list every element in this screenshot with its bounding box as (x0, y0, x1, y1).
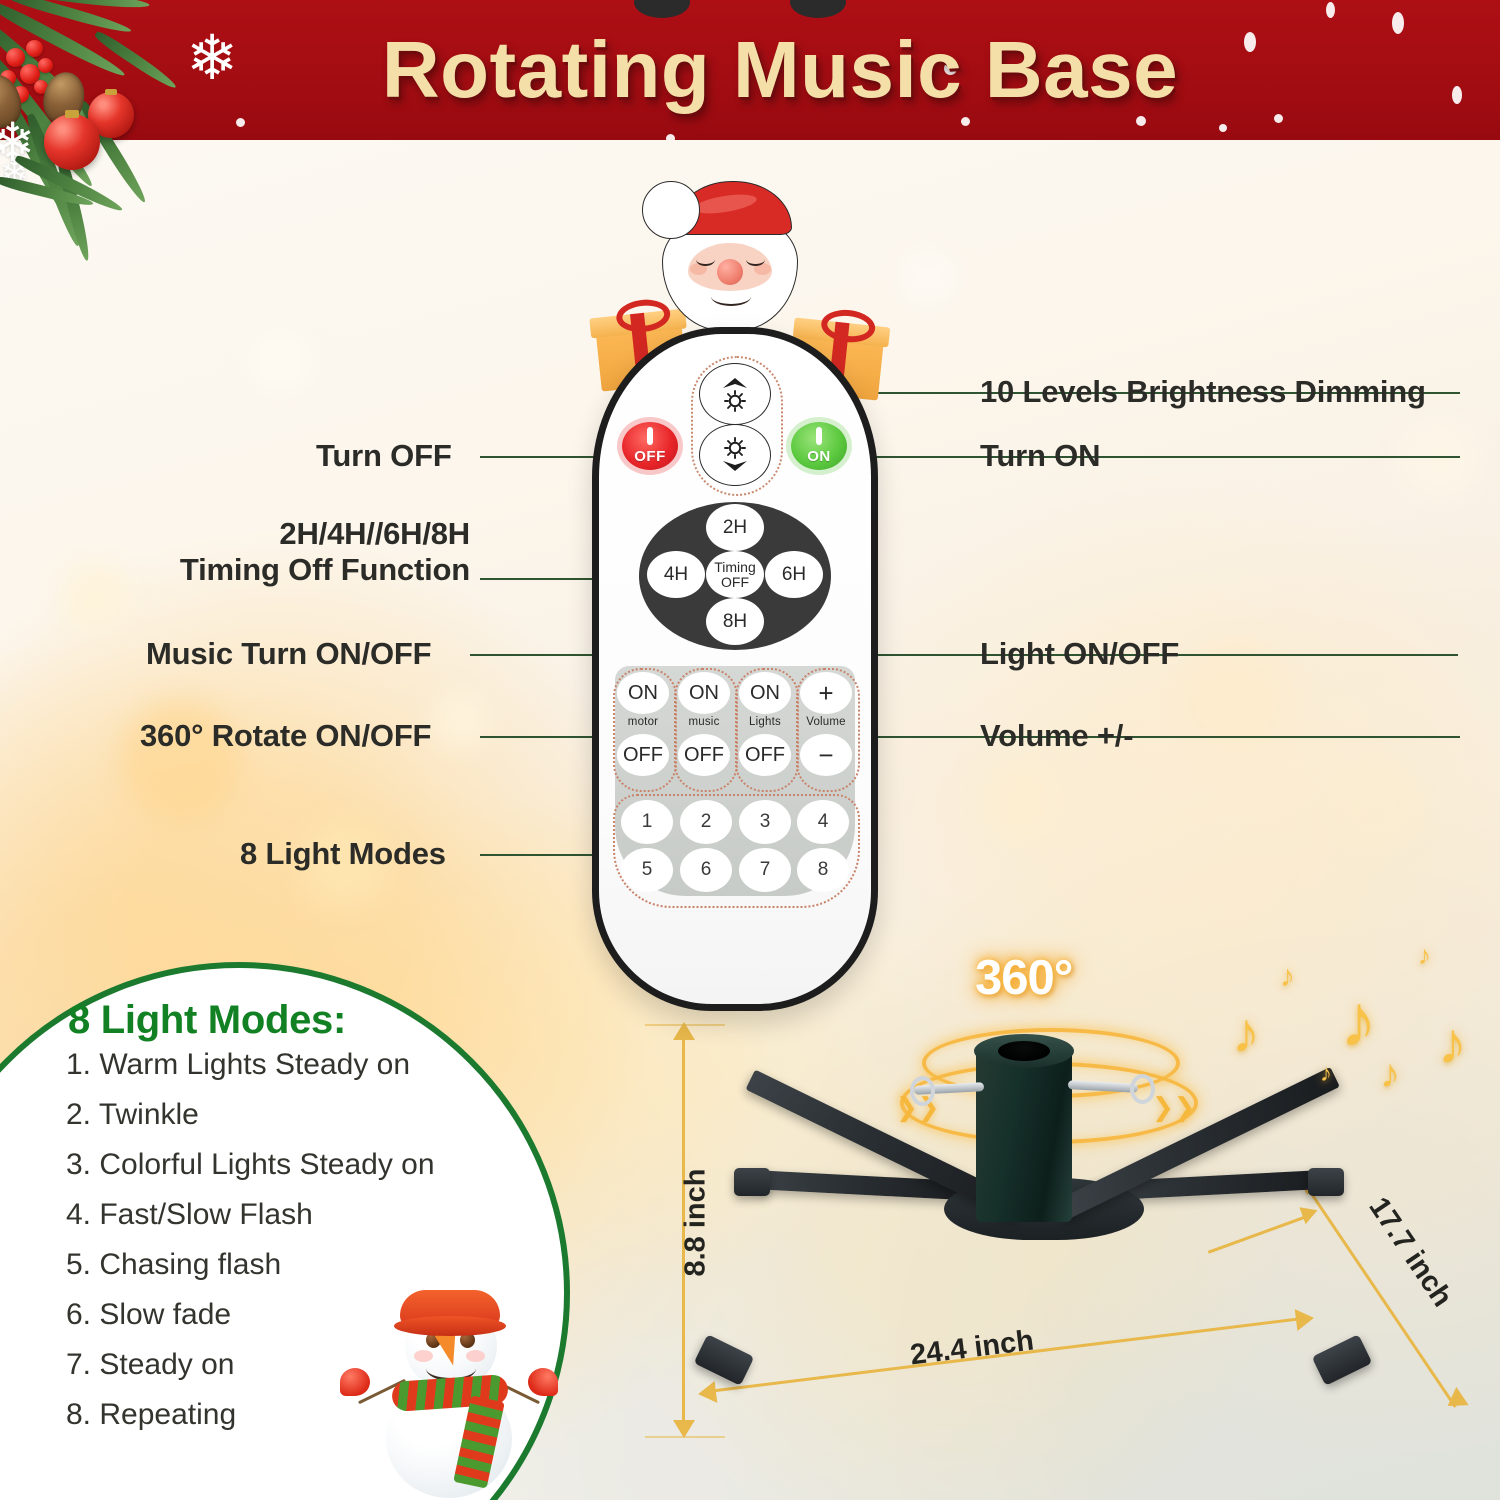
power-off-label: OFF (634, 448, 666, 470)
stand-screw-handle (1130, 1074, 1155, 1104)
list-item: 2. Twinkle (66, 1100, 536, 1130)
mode-7-button[interactable]: 7 (739, 848, 791, 892)
timer-6h-button[interactable]: 6H (765, 551, 823, 598)
leader-line-turn-on (800, 456, 1460, 458)
music-note-icon: ♪ (1280, 960, 1295, 994)
santa-eye (746, 253, 765, 266)
list-item: 4. Fast/Slow Flash (66, 1200, 536, 1230)
music-note-icon: ♪ (1232, 1000, 1260, 1065)
timing-off-line1: Timing (714, 560, 756, 575)
brightness-down-icon (713, 433, 757, 477)
list-item: 3. Colorful Lights Steady on (66, 1150, 536, 1180)
callout-volume: Volume +/- (980, 718, 1133, 754)
mode-3-button[interactable]: 3 (739, 800, 791, 844)
holly-berry (6, 48, 25, 67)
motor-label: motor (613, 716, 673, 728)
music-note-icon: ♪ (1418, 940, 1431, 971)
snowman-icon (332, 1272, 564, 1500)
timer-4h-button[interactable]: 4H (647, 551, 705, 598)
callout-turn-off: Turn OFF (316, 438, 452, 474)
timer-2h-button[interactable]: 2H (706, 504, 764, 551)
volume-up-button[interactable]: + (800, 672, 852, 714)
brightness-down-button[interactable] (699, 424, 771, 486)
callout-brightness: 10 Levels Brightness Dimming (980, 374, 1426, 410)
music-note-icon: ♪ (1320, 1060, 1332, 1088)
brightness-up-button[interactable] (699, 363, 771, 425)
music-on-button[interactable]: ON (678, 672, 730, 714)
tree-stand-product: ❯❯ ❯❯ (660, 1000, 1360, 1470)
rotation-arrow-right: ❯❯ (1152, 1092, 1196, 1123)
music-note-icon: ♪ (1380, 1052, 1400, 1097)
timing-off-button[interactable]: Timing OFF (706, 551, 764, 598)
mode-4-button[interactable]: 4 (797, 800, 849, 844)
power-on-button[interactable]: ON (791, 422, 847, 470)
list-item: 1. Warm Lights Steady on (66, 1050, 536, 1080)
holly-berry (38, 58, 53, 73)
snowman-mitten-left (340, 1368, 370, 1396)
volume-down-button[interactable]: − (800, 734, 852, 776)
remote-control: OFF ON 2H 4H 6H 8H Timing OFF ON motor O… (592, 327, 878, 1011)
santa-eye (696, 253, 715, 266)
stand-column-hole (998, 1041, 1050, 1061)
volume-label: Volume (796, 716, 856, 728)
timer-8h-button[interactable]: 8H (706, 598, 764, 645)
santa-claus-icon (648, 183, 812, 335)
callout-light-onoff: Light ON/OFF (980, 636, 1179, 672)
leader-line-volume (840, 736, 1460, 738)
motor-off-button[interactable]: OFF (617, 734, 669, 776)
brightness-up-icon (713, 372, 757, 416)
mode-6-button[interactable]: 6 (680, 848, 732, 892)
christmas-bauble (44, 114, 100, 170)
rotation-badge: 360° (975, 950, 1072, 1006)
music-label: music (674, 716, 734, 728)
stand-column (976, 1046, 1072, 1222)
dim-height-label: 8.8 inch (680, 1169, 713, 1277)
music-note-icon: ♪ (1438, 1010, 1467, 1077)
stand-foot-back-right (1308, 1168, 1344, 1196)
callout-light-modes: 8 Light Modes (240, 836, 446, 872)
lights-off-button[interactable]: OFF (739, 734, 791, 776)
mode-2-button[interactable]: 2 (680, 800, 732, 844)
infographic-page: ❄ Rotating Music Base ❄ ❄ (0, 0, 1500, 1500)
mode-5-button[interactable]: 5 (621, 848, 673, 892)
santa-hat-pompom (642, 181, 700, 239)
callout-timing-line1: 2H/4H//6H/8H (130, 516, 470, 552)
mode-8-button[interactable]: 8 (797, 848, 849, 892)
motor-on-button[interactable]: ON (617, 672, 669, 714)
stand-foot-back-left (734, 1168, 770, 1196)
lights-label: Lights (735, 716, 795, 728)
power-off-button[interactable]: OFF (622, 422, 678, 470)
christmas-wreath-decoration: ❄ ❄ (0, 0, 242, 248)
santa-smile (711, 287, 751, 306)
callout-turn-on: Turn ON (980, 438, 1100, 474)
light-modes-heading: 8 Light Modes: (68, 998, 346, 1043)
mode-1-button[interactable]: 1 (621, 800, 673, 844)
lights-on-button[interactable]: ON (739, 672, 791, 714)
timing-off-line2: OFF (721, 575, 749, 590)
santa-nose (717, 259, 743, 285)
music-off-button[interactable]: OFF (678, 734, 730, 776)
stand-foot-front-left (694, 1334, 755, 1386)
snowman-hat-brim (394, 1316, 506, 1336)
power-on-label: ON (807, 448, 831, 470)
callout-timing-line2: Timing Off Function (130, 552, 470, 588)
holly-berry (26, 40, 43, 57)
callout-music: Music Turn ON/OFF (146, 636, 431, 672)
music-note-icon: ♪ (1340, 978, 1377, 1063)
snowman-mitten-right (528, 1368, 558, 1396)
callout-rotate: 360° Rotate ON/OFF (140, 718, 431, 754)
callout-timing: 2H/4H//6H/8H Timing Off Function (130, 516, 470, 588)
stand-screw-handle (910, 1076, 935, 1106)
